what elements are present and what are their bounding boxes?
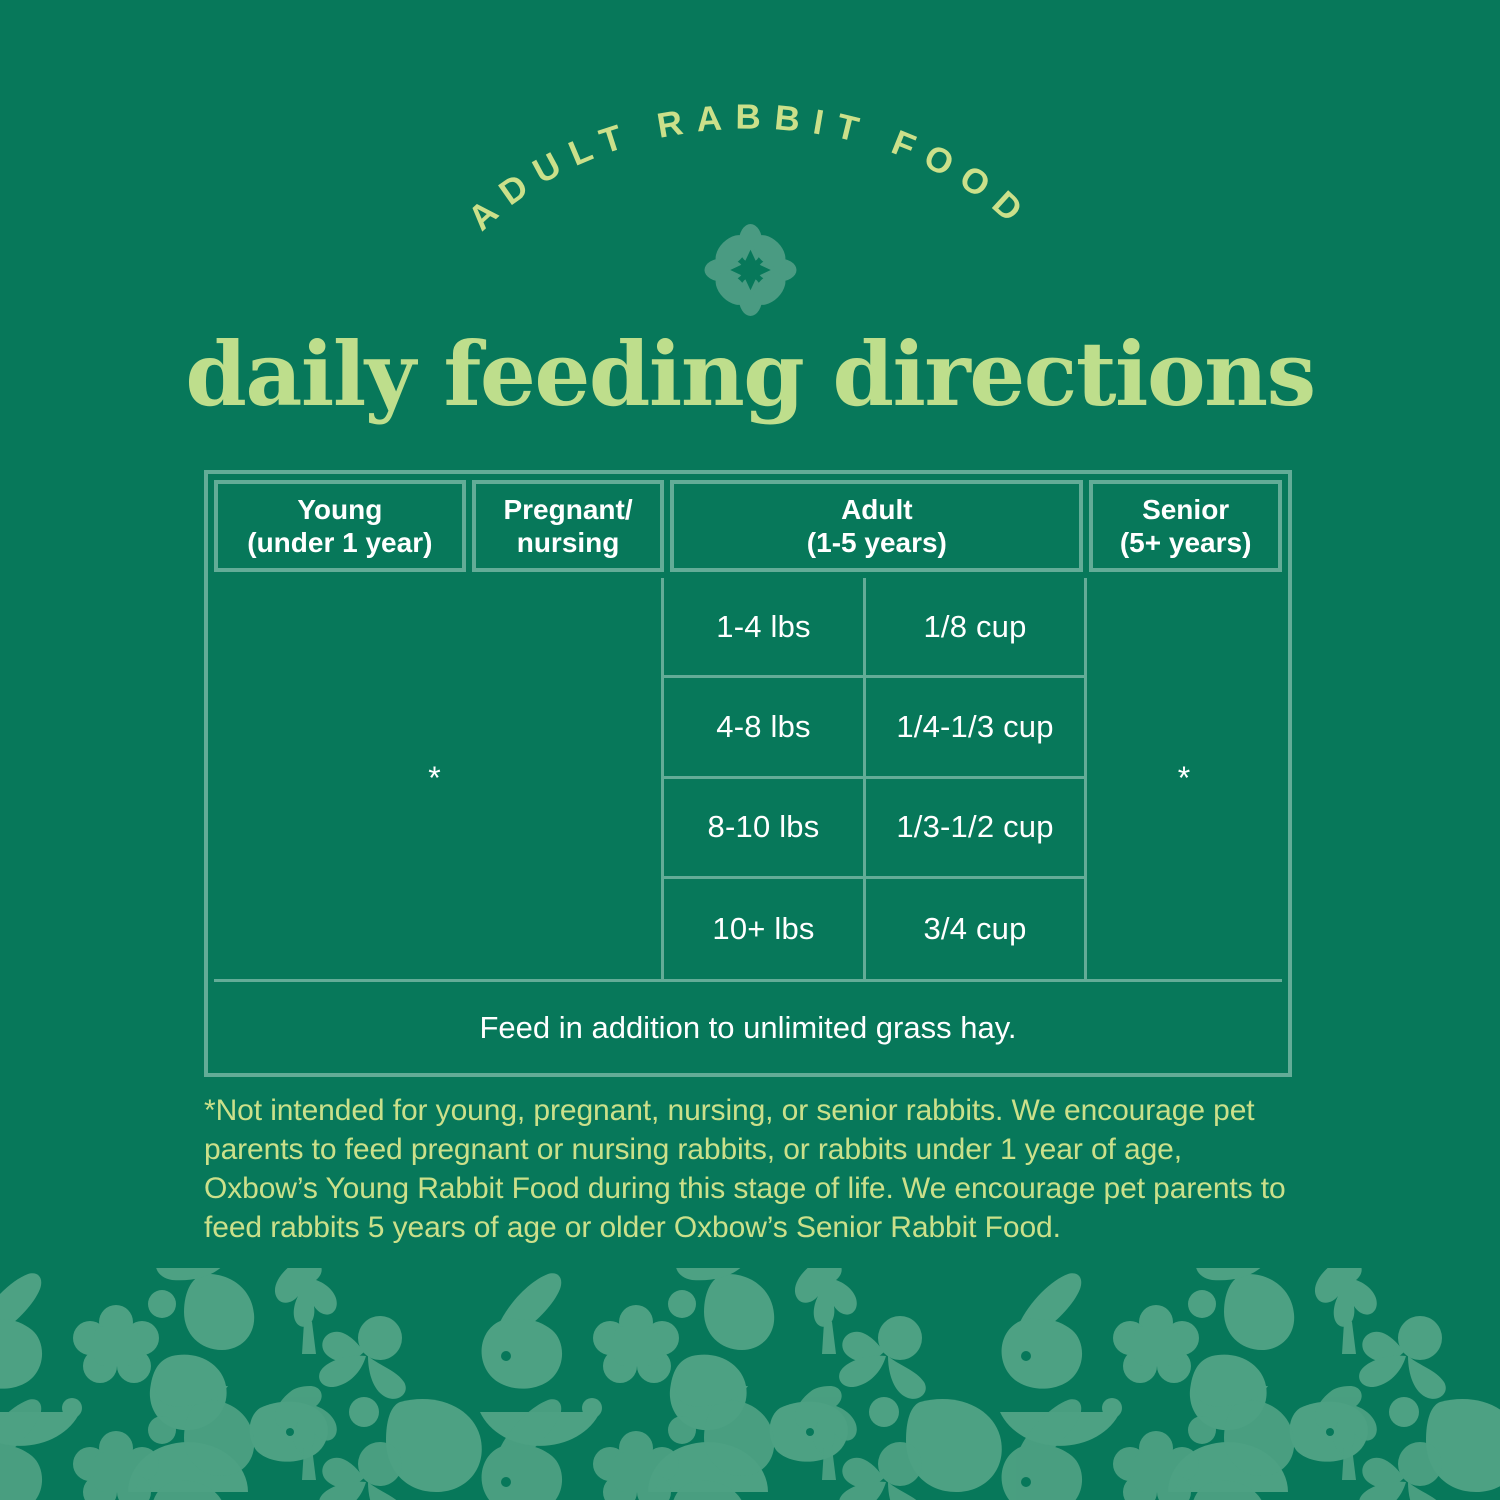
cell-senior-asterisk: * xyxy=(1084,578,1281,979)
column-header-adult: Adult (1-5 years) xyxy=(670,480,1083,572)
table-row: 4-8 lbs 1/4-1/3 cup xyxy=(664,678,1084,778)
header-pregnant-line1: Pregnant/ xyxy=(503,494,632,525)
cell-amount: 1/8 cup xyxy=(866,578,1084,675)
cell-amount: 1/4-1/3 cup xyxy=(866,678,1084,775)
table-row: 10+ lbs 3/4 cup xyxy=(664,879,1084,979)
cell-weight: 8-10 lbs xyxy=(664,779,866,876)
page-title: daily feeding directions xyxy=(0,330,1500,418)
header-adult-line1: Adult xyxy=(841,494,913,525)
disclaimer-text: *Not intended for young, pregnant, nursi… xyxy=(204,1091,1296,1247)
table-row: 1-4 lbs 1/8 cup xyxy=(664,578,1084,678)
column-header-pregnant: Pregnant/ nursing xyxy=(472,480,665,572)
header-young-line1: Young xyxy=(297,494,382,525)
packaging-panel: ADULT RABBIT FOOD daily feedin xyxy=(0,0,1500,1500)
header-young-line2: (under 1 year) xyxy=(247,527,432,558)
cell-weight: 1-4 lbs xyxy=(664,578,866,675)
column-header-senior: Senior (5+ years) xyxy=(1089,480,1282,572)
header-pregnant-line2: nursing xyxy=(517,527,620,558)
eyebrow-text: ADULT RABBIT FOOD xyxy=(461,98,1040,239)
header-senior-line1: Senior xyxy=(1142,494,1229,525)
column-header-young: Young (under 1 year) xyxy=(214,480,466,572)
adult-subtable: 1-4 lbs 1/8 cup 4-8 lbs 1/4-1/3 cup 8-10… xyxy=(664,578,1084,979)
table-body-row: * 1-4 lbs 1/8 cup 4-8 lbs 1/4-1/3 cup 8-… xyxy=(208,578,1288,979)
feeding-table: Young (under 1 year) Pregnant/ nursing A… xyxy=(204,470,1292,1077)
cell-amount: 1/3-1/2 cup xyxy=(866,779,1084,876)
cell-weight: 10+ lbs xyxy=(664,879,866,979)
cell-amount: 3/4 cup xyxy=(866,879,1084,979)
header-senior-line2: (5+ years) xyxy=(1120,527,1252,558)
botanical-rabbit-pattern xyxy=(0,1268,1500,1500)
table-footer-note: Feed in addition to unlimited grass hay. xyxy=(214,979,1282,1073)
cell-young-asterisk: * xyxy=(208,578,664,979)
table-header-row: Young (under 1 year) Pregnant/ nursing A… xyxy=(208,474,1288,578)
cell-weight: 4-8 lbs xyxy=(664,678,866,775)
rosette-flower-icon xyxy=(703,224,798,316)
table-row: 8-10 lbs 1/3-1/2 cup xyxy=(664,779,1084,879)
header-adult-line2: (1-5 years) xyxy=(807,527,947,558)
